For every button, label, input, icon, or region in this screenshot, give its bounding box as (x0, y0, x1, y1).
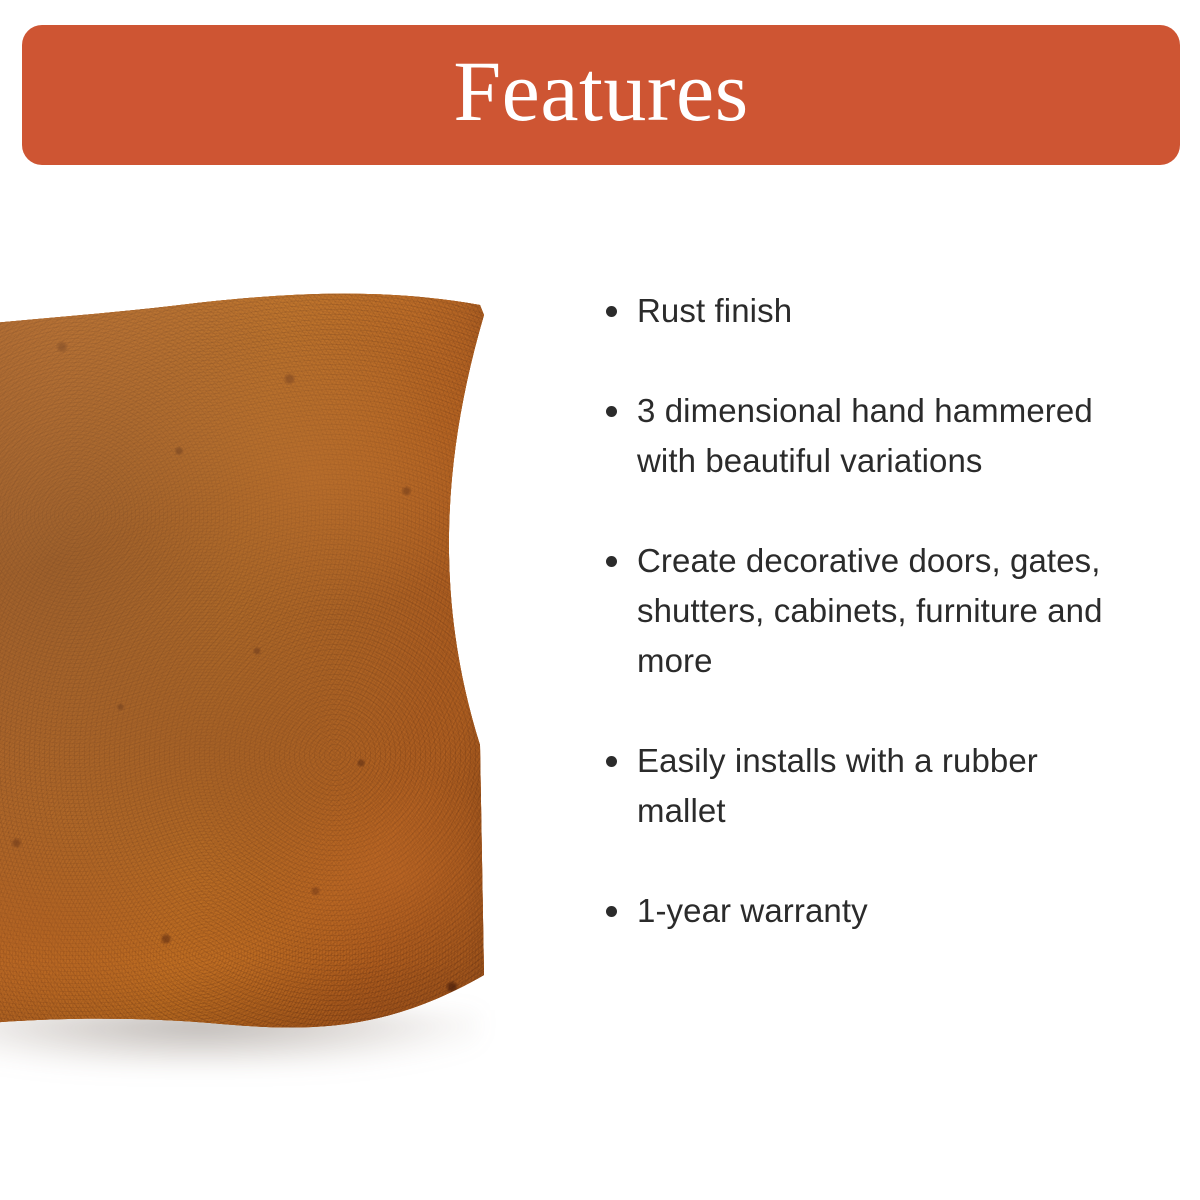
list-item: Rust finish (604, 286, 1124, 336)
product-image (0, 275, 530, 1075)
list-item-label: 1-year warranty (637, 892, 868, 929)
list-item-label: Rust finish (637, 292, 792, 329)
list-item: Easily installs with a rubber mallet (604, 736, 1124, 836)
bullet-icon (606, 756, 617, 767)
list-item: 1-year warranty (604, 886, 1124, 936)
page-title: Features (453, 48, 748, 134)
list-item-label: 3 dimensional hand hammered with beautif… (637, 392, 1093, 479)
bullet-icon (606, 556, 617, 567)
features-banner: Features (22, 25, 1180, 165)
rusted-metal-panel (0, 275, 530, 1075)
feature-list: Rust finish 3 dimensional hand hammered … (604, 286, 1124, 936)
bullet-icon (606, 406, 617, 417)
list-item-label: Easily installs with a rubber mallet (637, 742, 1038, 829)
product-feature-card: Features Rust finish 3 dimensional hand … (0, 0, 1200, 1200)
bullet-icon (606, 906, 617, 917)
list-item: 3 dimensional hand hammered with beautif… (604, 386, 1124, 486)
bullet-icon (606, 306, 617, 317)
list-item: Create decorative doors, gates, shutters… (604, 536, 1124, 686)
list-item-label: Create decorative doors, gates, shutters… (637, 542, 1103, 679)
